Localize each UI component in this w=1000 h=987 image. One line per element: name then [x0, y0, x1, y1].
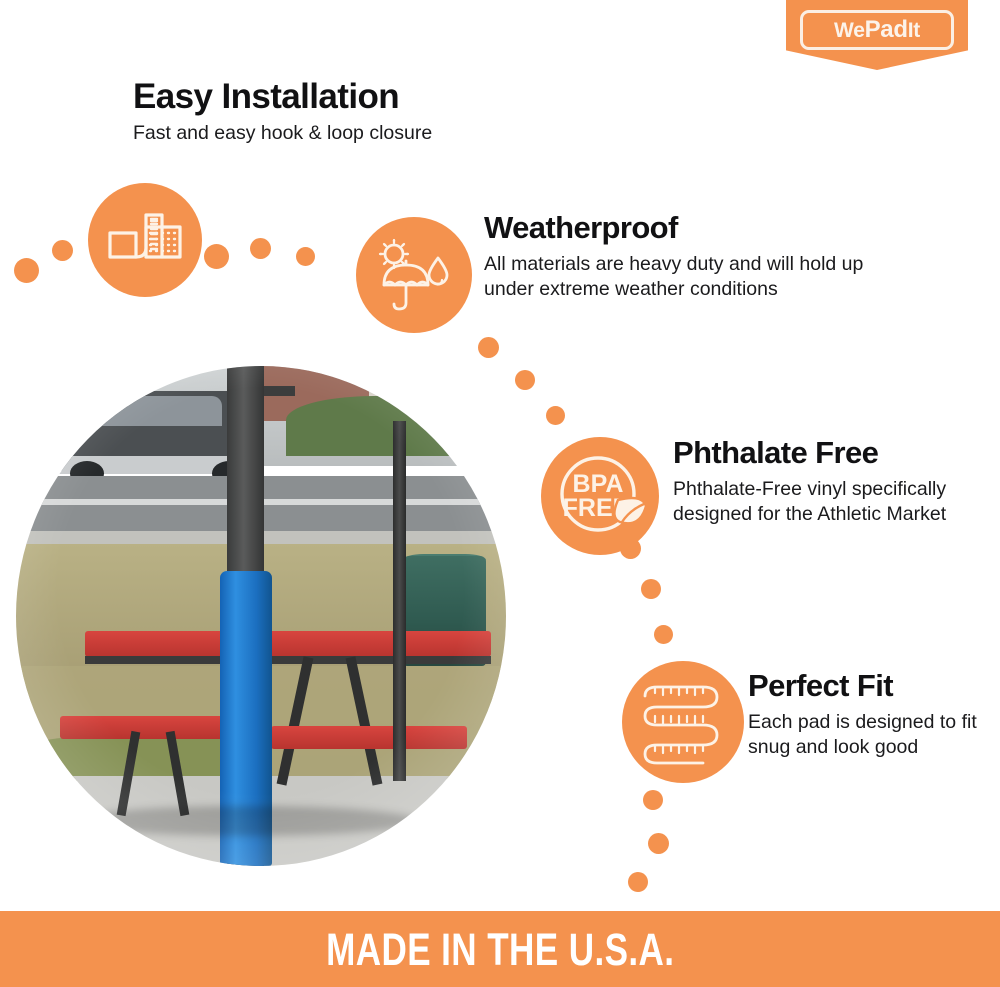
feature-body: Each pad is designed to fit snug and loo…	[748, 710, 988, 761]
made-in-usa-banner: MADE IN THE U.S.A.	[0, 911, 1000, 987]
feature-body: Fast and easy hook & loop closure	[133, 121, 553, 146]
bpa-free-leaf-icon: BPA FREE	[541, 437, 659, 555]
feature-weatherproof: Weatherproof All materials are heavy dut…	[484, 212, 914, 303]
trail-dot	[643, 790, 663, 810]
feature-perfect-fit: Perfect Fit Each pad is designed to fit …	[748, 670, 988, 761]
feature-body: All materials are heavy duty and will ho…	[484, 252, 914, 303]
logo-wordmark: WePadIt	[834, 18, 920, 42]
trail-dot	[296, 247, 315, 266]
brand-logo-badge: WePadIt	[786, 0, 968, 70]
trail-dot	[546, 406, 565, 425]
made-in-usa-text: MADE IN THE U.S.A.	[326, 927, 674, 972]
feature-title: Perfect Fit	[748, 670, 988, 703]
product-photo	[16, 366, 506, 866]
feature-title: Easy Installation	[133, 78, 553, 115]
hook-and-loop-strap-icon	[88, 183, 202, 297]
trail-dot	[14, 258, 39, 283]
feature-title: Phthalate Free	[673, 437, 973, 470]
trail-dot	[515, 370, 535, 390]
trail-dot	[204, 244, 229, 269]
infographic-page: WePadIt Easy Installation Fast and easy …	[0, 0, 1000, 987]
feature-title: Weatherproof	[484, 212, 914, 245]
trail-dot	[654, 625, 673, 644]
trail-dot	[250, 238, 271, 259]
feature-body: Phthalate-Free vinyl specifically design…	[673, 477, 973, 528]
feature-easy-installation: Easy Installation Fast and easy hook & l…	[133, 78, 553, 146]
measuring-tape-icon	[622, 661, 744, 783]
logo-frame: WePadIt	[800, 10, 954, 50]
logo-word-pad: Pad	[865, 16, 908, 43]
feature-phthalate-free: Phthalate Free Phthalate-Free vinyl spec…	[673, 437, 973, 528]
trail-dot	[478, 337, 499, 358]
logo-word-we: We	[834, 19, 865, 42]
sun-umbrella-raindrop-icon	[356, 217, 472, 333]
logo-word-it: It	[908, 19, 920, 42]
trail-dot	[52, 240, 73, 261]
photo-scene	[16, 366, 506, 866]
trail-dot	[641, 579, 661, 599]
trail-dot	[628, 872, 648, 892]
photo-vignette	[16, 366, 506, 866]
trail-dot	[648, 833, 669, 854]
